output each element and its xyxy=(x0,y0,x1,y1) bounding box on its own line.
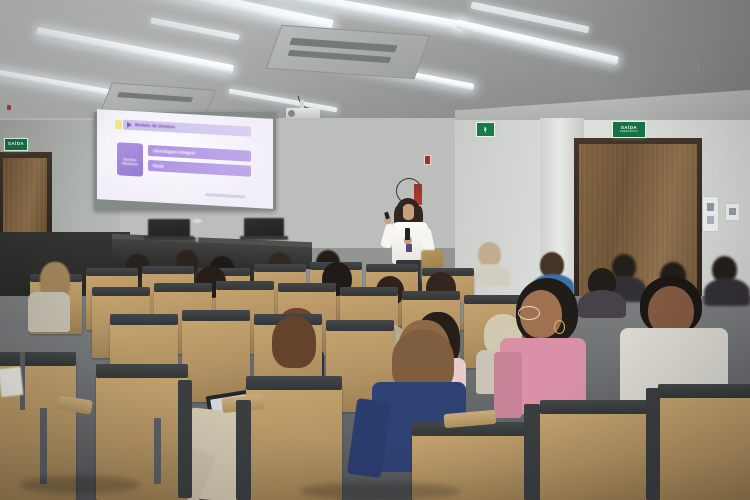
seat-leg xyxy=(154,418,161,484)
seat-side-panel xyxy=(178,380,192,498)
seat-shadow xyxy=(300,482,460,500)
seat-headrest xyxy=(254,264,306,272)
smoke-detector-indicator xyxy=(7,105,11,110)
seat-headrest xyxy=(216,281,274,290)
projection-screen: Modelo de Direitos Direitos Humanos Abor… xyxy=(97,109,273,209)
laptop-base xyxy=(240,236,288,240)
seat-shadow xyxy=(20,476,140,494)
seat[interactable] xyxy=(658,392,750,500)
hoop-earring-icon xyxy=(554,320,565,334)
seat-headrest xyxy=(0,352,76,366)
seat-headrest xyxy=(340,287,398,296)
handout-papers xyxy=(0,367,23,397)
exit-sign-right: SAÍDA EMERGÊNCIA xyxy=(612,121,646,138)
audience-shoulders xyxy=(704,278,750,306)
audience-shoulders xyxy=(470,264,510,286)
slide-accent-mark xyxy=(115,120,122,129)
seat-headrest xyxy=(464,295,522,304)
seat-headrest xyxy=(366,264,418,272)
exit-sign-left-text: SAÍDA xyxy=(8,142,24,147)
slide-item-two-text: Rede xyxy=(153,163,164,169)
seat-headrest xyxy=(658,384,750,398)
exit-sign-center xyxy=(476,122,495,137)
microphone-stand xyxy=(196,222,198,242)
seat-headrest xyxy=(182,310,250,321)
seat-leg xyxy=(40,408,47,484)
microphone-head xyxy=(192,219,202,223)
seat-headrest xyxy=(402,291,460,300)
slide-category-text: Direitos Humanos xyxy=(118,157,142,166)
microphone xyxy=(405,228,410,240)
audience-head xyxy=(272,316,316,368)
seat-headrest xyxy=(326,320,394,331)
ceiling-hook xyxy=(697,60,699,72)
seat-side-panel xyxy=(524,404,540,500)
wall-notice-plate xyxy=(702,196,719,232)
presenter-lanyard xyxy=(406,244,412,252)
audience-shoulders xyxy=(578,290,626,318)
seat-headrest xyxy=(86,268,138,276)
seat-headrest xyxy=(110,314,178,325)
projector-lens xyxy=(288,110,295,117)
slide-title-arrow-icon xyxy=(127,122,132,128)
seat-headrest xyxy=(96,364,188,378)
seat-side-panel xyxy=(236,400,251,500)
running-man-icon xyxy=(484,127,488,133)
eyeglasses-icon xyxy=(518,306,540,320)
seat[interactable] xyxy=(540,408,652,500)
seat-headrest xyxy=(278,283,336,292)
seat-headrest xyxy=(154,283,212,292)
exit-sign-right-subtext: EMERGÊNCIA xyxy=(620,131,638,133)
fire-equipment-sign xyxy=(424,155,431,165)
seat-headrest xyxy=(142,266,194,274)
auditorium-photo: SAÍDA SAÍDA EMERGÊNCIA Modelo de Direito… xyxy=(0,0,750,500)
laptop-base xyxy=(144,236,194,240)
seat-side-panel xyxy=(646,388,660,500)
seat[interactable] xyxy=(182,316,250,402)
laptop xyxy=(244,218,284,238)
audience-body xyxy=(28,292,70,332)
seat-headrest xyxy=(92,287,150,296)
exit-sign-left: SAÍDA xyxy=(4,138,28,151)
seat-headrest xyxy=(246,376,342,390)
wall-notice-plate xyxy=(725,203,740,221)
audience-arm xyxy=(494,352,522,418)
seat-headrest xyxy=(540,400,652,414)
